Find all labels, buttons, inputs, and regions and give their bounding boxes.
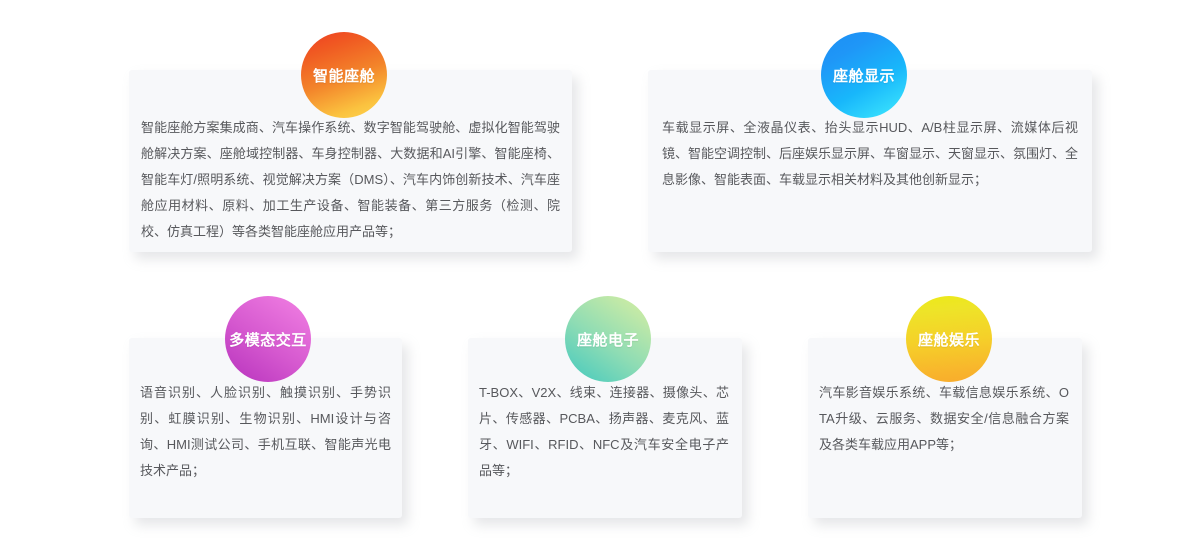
category-card-title: 座舱电子: [577, 329, 639, 350]
category-card-description: 语音识别、人脸识别、触摸识别、手势识别、虹膜识别、生物识别、HMI设计与咨询、H…: [140, 380, 391, 484]
gradient-circle-yellow-icon[interactable]: 座舱娱乐: [906, 296, 992, 382]
category-card-description: T-BOX、V2X、线束、连接器、摄像头、芯片、传感器、PCBA、扬声器、麦克风…: [479, 380, 729, 484]
category-card-description: 汽车影音娱乐系统、车载信息娱乐系统、OTA升级、云服务、数据安全/信息融合方案及…: [819, 380, 1069, 458]
gradient-circle-green-icon[interactable]: 座舱电子: [565, 296, 651, 382]
category-card-description: 智能座舱方案集成商、汽车操作系统、数字智能驾驶舱、虚拟化智能驾驶舱解决方案、座舱…: [141, 115, 560, 245]
gradient-circle-blue-icon[interactable]: 座舱显示: [821, 32, 907, 118]
category-card-title: 座舱显示: [833, 65, 895, 86]
category-card-title: 座舱娱乐: [918, 329, 980, 350]
category-card-description: 车载显示屏、全液晶仪表、抬头显示HUD、A/B柱显示屏、流媒体后视镜、智能空调控…: [662, 115, 1078, 193]
category-card-board: 智能座舱方案集成商、汽车操作系统、数字智能驾驶舱、虚拟化智能驾驶舱解决方案、座舱…: [0, 0, 1200, 550]
category-card-title: 智能座舱: [313, 65, 375, 86]
gradient-circle-purple-icon[interactable]: 多模态交互: [225, 296, 311, 382]
gradient-circle-orange-icon[interactable]: 智能座舱: [301, 32, 387, 118]
category-card-title: 多模态交互: [229, 329, 307, 350]
